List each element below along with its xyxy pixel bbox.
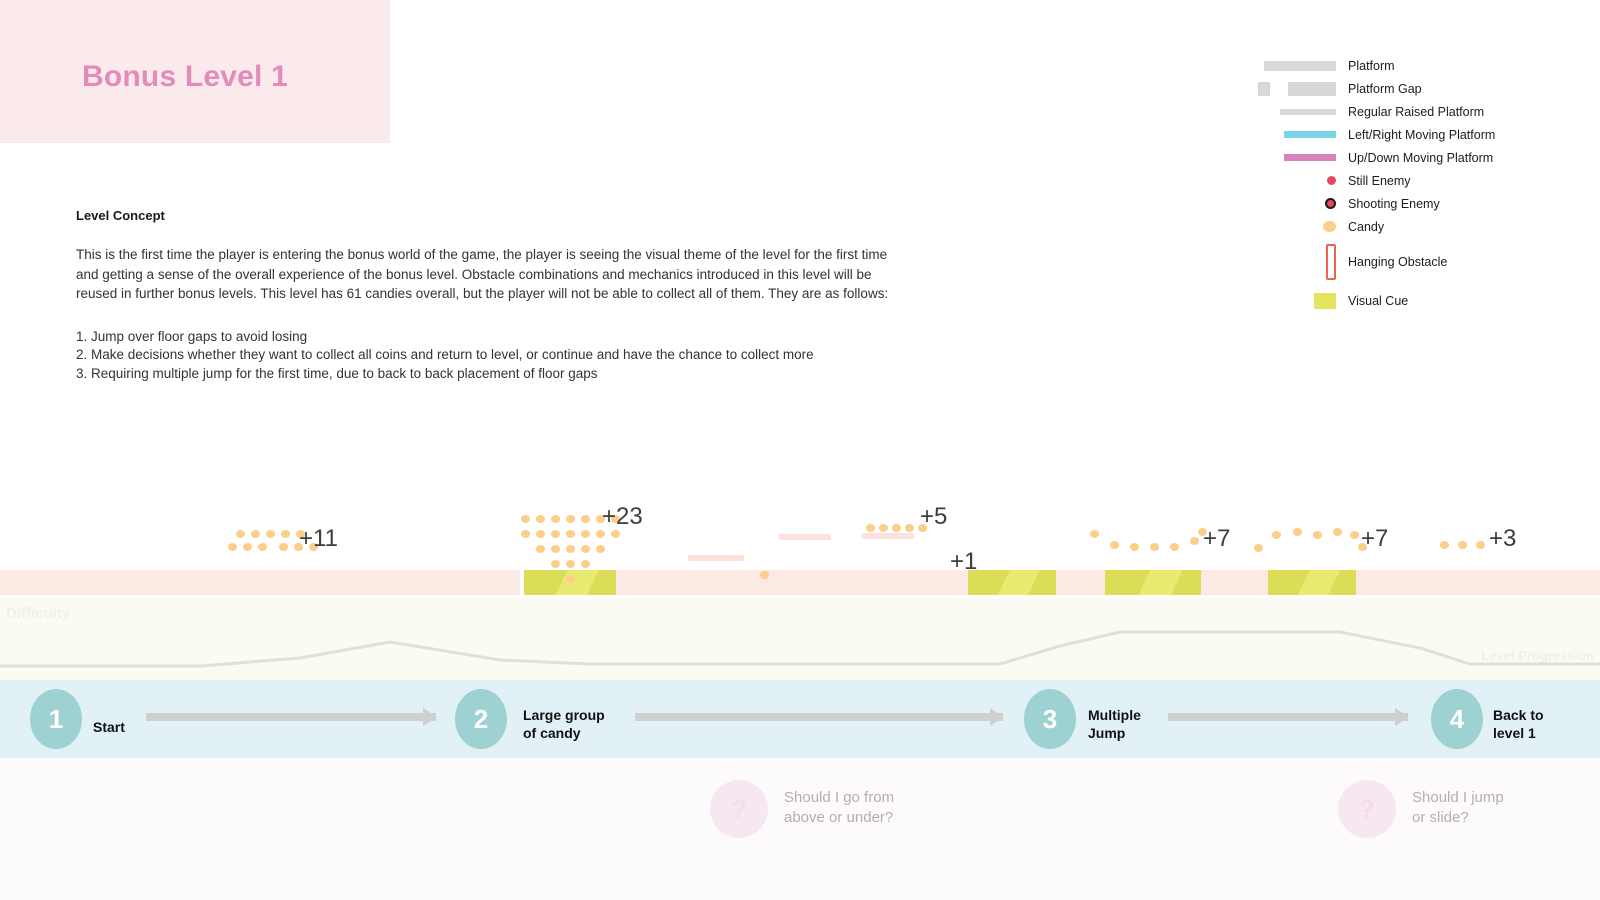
legend-item-still-enemy: Still Enemy [1256, 169, 1600, 192]
legend-item-candy: Candy [1256, 215, 1600, 238]
candy [1272, 531, 1281, 539]
legend-label: Candy [1336, 220, 1384, 234]
legend-label: Still Enemy [1336, 174, 1411, 188]
candy-count-label: +23 [602, 503, 643, 531]
platform-gap-icon [1256, 82, 1336, 96]
candy [760, 571, 769, 579]
question-text-2: Should I jumpor slide? [1412, 788, 1504, 828]
candy [611, 530, 620, 538]
candy [1458, 541, 1467, 549]
candy [1170, 543, 1179, 551]
candy [866, 524, 875, 532]
step-circle-1[interactable]: 1 [30, 689, 82, 749]
steps-band: 1 Start 2 Large groupof candy 3 Multiple… [0, 680, 1600, 758]
raised-platform-icon [1256, 109, 1336, 115]
legend-item-visual-cue: Visual Cue [1256, 286, 1600, 316]
candy-count-label: +7 [1203, 525, 1230, 553]
visual-cue [968, 570, 1056, 595]
candy [551, 515, 560, 523]
question-mark-icon: ? [710, 780, 768, 838]
candy [581, 515, 590, 523]
candy [521, 530, 530, 538]
candy [536, 515, 545, 523]
candy [551, 560, 560, 568]
legend-label: Up/Down Moving Platform [1336, 151, 1493, 165]
candy-icon [1256, 221, 1336, 232]
step-arrow-3-4 [1168, 713, 1408, 721]
concept-list: 1. Jump over floor gaps to avoid losing … [76, 328, 896, 384]
candy [258, 543, 267, 551]
questions-band: ? Should I go fromabove or under? ? Shou… [0, 758, 1600, 900]
level-progression-label: Level Progression [1481, 648, 1594, 663]
legend-item-shooting-enemy: Shooting Enemy [1256, 192, 1600, 215]
candy [566, 530, 575, 538]
step-label-2: Large groupof candy [523, 706, 605, 742]
step-label-1: Start [93, 718, 125, 736]
candy [266, 530, 275, 538]
lr-moving-platform-icon [1256, 131, 1336, 138]
candy [1293, 528, 1302, 536]
candy [566, 575, 575, 583]
legend-item-lr-moving-platform: Left/Right Moving Platform [1256, 123, 1600, 146]
step-circle-2[interactable]: 2 [455, 689, 507, 749]
candy [581, 545, 590, 553]
concept-heading: Level Concept [76, 208, 896, 223]
raised-platform [688, 555, 744, 561]
candy [236, 530, 245, 538]
candy [1440, 541, 1449, 549]
question-mark-icon: ? [1338, 780, 1396, 838]
candy [1190, 537, 1199, 545]
candy [243, 543, 252, 551]
legend: Platform Platform Gap Regular Raised Pla… [1256, 54, 1600, 316]
raised-platform [779, 534, 831, 540]
candy [551, 530, 560, 538]
level-concept-section: Level Concept This is the first time the… [76, 208, 896, 384]
candy [596, 545, 605, 553]
raised-platform [862, 533, 914, 539]
title-banner: Bonus Level 1 [0, 0, 390, 143]
candy [521, 515, 530, 523]
question-text-1: Should I go fromabove or under? [784, 788, 894, 828]
concept-list-item: 2. Make decisions whether they want to c… [76, 346, 896, 365]
candy [581, 560, 590, 568]
legend-label: Shooting Enemy [1336, 197, 1440, 211]
candy [879, 524, 888, 532]
legend-label: Hanging Obstacle [1336, 255, 1447, 269]
candy [1254, 544, 1263, 552]
step-arrow-1-2 [146, 713, 436, 721]
visual-cue [1105, 570, 1201, 595]
concept-list-item: 1. Jump over floor gaps to avoid losing [76, 328, 896, 347]
legend-item-hanging-obstacle: Hanging Obstacle [1256, 238, 1600, 286]
difficulty-panel: Difficulty Level Progression [0, 598, 1600, 680]
candy [279, 543, 288, 551]
candy [1350, 531, 1359, 539]
page-title: Bonus Level 1 [82, 60, 288, 94]
candy [1130, 543, 1139, 551]
legend-item-platform-gap: Platform Gap [1256, 77, 1600, 100]
platform-icon [1256, 61, 1336, 71]
candy [251, 530, 260, 538]
candy [536, 545, 545, 553]
legend-label: Platform [1336, 59, 1395, 73]
candy [892, 524, 901, 532]
candy-count-label: +5 [920, 503, 947, 531]
ud-moving-platform-icon [1256, 154, 1336, 161]
candy [1333, 528, 1342, 536]
ground-platform [0, 570, 1600, 595]
legend-label: Visual Cue [1336, 294, 1408, 308]
candy [1110, 541, 1119, 549]
visual-cue [1268, 570, 1356, 595]
level-map: +11+23+5+1+7+7+3 [0, 430, 1600, 605]
candy [581, 530, 590, 538]
step-arrow-2-3 [635, 713, 1003, 721]
legend-label: Left/Right Moving Platform [1336, 128, 1495, 142]
candy-count-label: +7 [1361, 525, 1388, 553]
candy [228, 543, 237, 551]
candy [1090, 530, 1099, 538]
candy [596, 530, 605, 538]
legend-item-platform: Platform [1256, 54, 1600, 77]
candy [536, 530, 545, 538]
legend-item-ud-moving-platform: Up/Down Moving Platform [1256, 146, 1600, 169]
candy [1313, 531, 1322, 539]
concept-list-item: 3. Requiring multiple jump for the first… [76, 365, 896, 384]
candy [566, 545, 575, 553]
step-circle-3[interactable]: 3 [1024, 689, 1076, 749]
shooting-enemy-icon [1256, 198, 1336, 209]
candy [551, 545, 560, 553]
candy-count-label: +1 [950, 548, 977, 576]
candy [566, 560, 575, 568]
step-circle-4[interactable]: 4 [1431, 689, 1483, 749]
concept-body: This is the first time the player is ent… [76, 245, 896, 304]
legend-label: Platform Gap [1336, 82, 1422, 96]
candy [1476, 541, 1485, 549]
step-label-3: MultipleJump [1088, 706, 1141, 742]
step-label-4: Back tolevel 1 [1493, 706, 1544, 742]
hanging-obstacle-icon [1256, 244, 1336, 280]
still-enemy-icon [1256, 176, 1336, 185]
candy [566, 515, 575, 523]
legend-label: Regular Raised Platform [1336, 105, 1484, 119]
difficulty-curve [0, 598, 1600, 680]
candy-count-label: +11 [299, 525, 338, 553]
candy [905, 524, 914, 532]
candy-count-label: +3 [1489, 525, 1516, 553]
difficulty-label: Difficulty [6, 605, 70, 622]
legend-item-raised-platform: Regular Raised Platform [1256, 100, 1600, 123]
visual-cue-icon [1256, 293, 1336, 309]
candy [1150, 543, 1159, 551]
candy [281, 530, 290, 538]
